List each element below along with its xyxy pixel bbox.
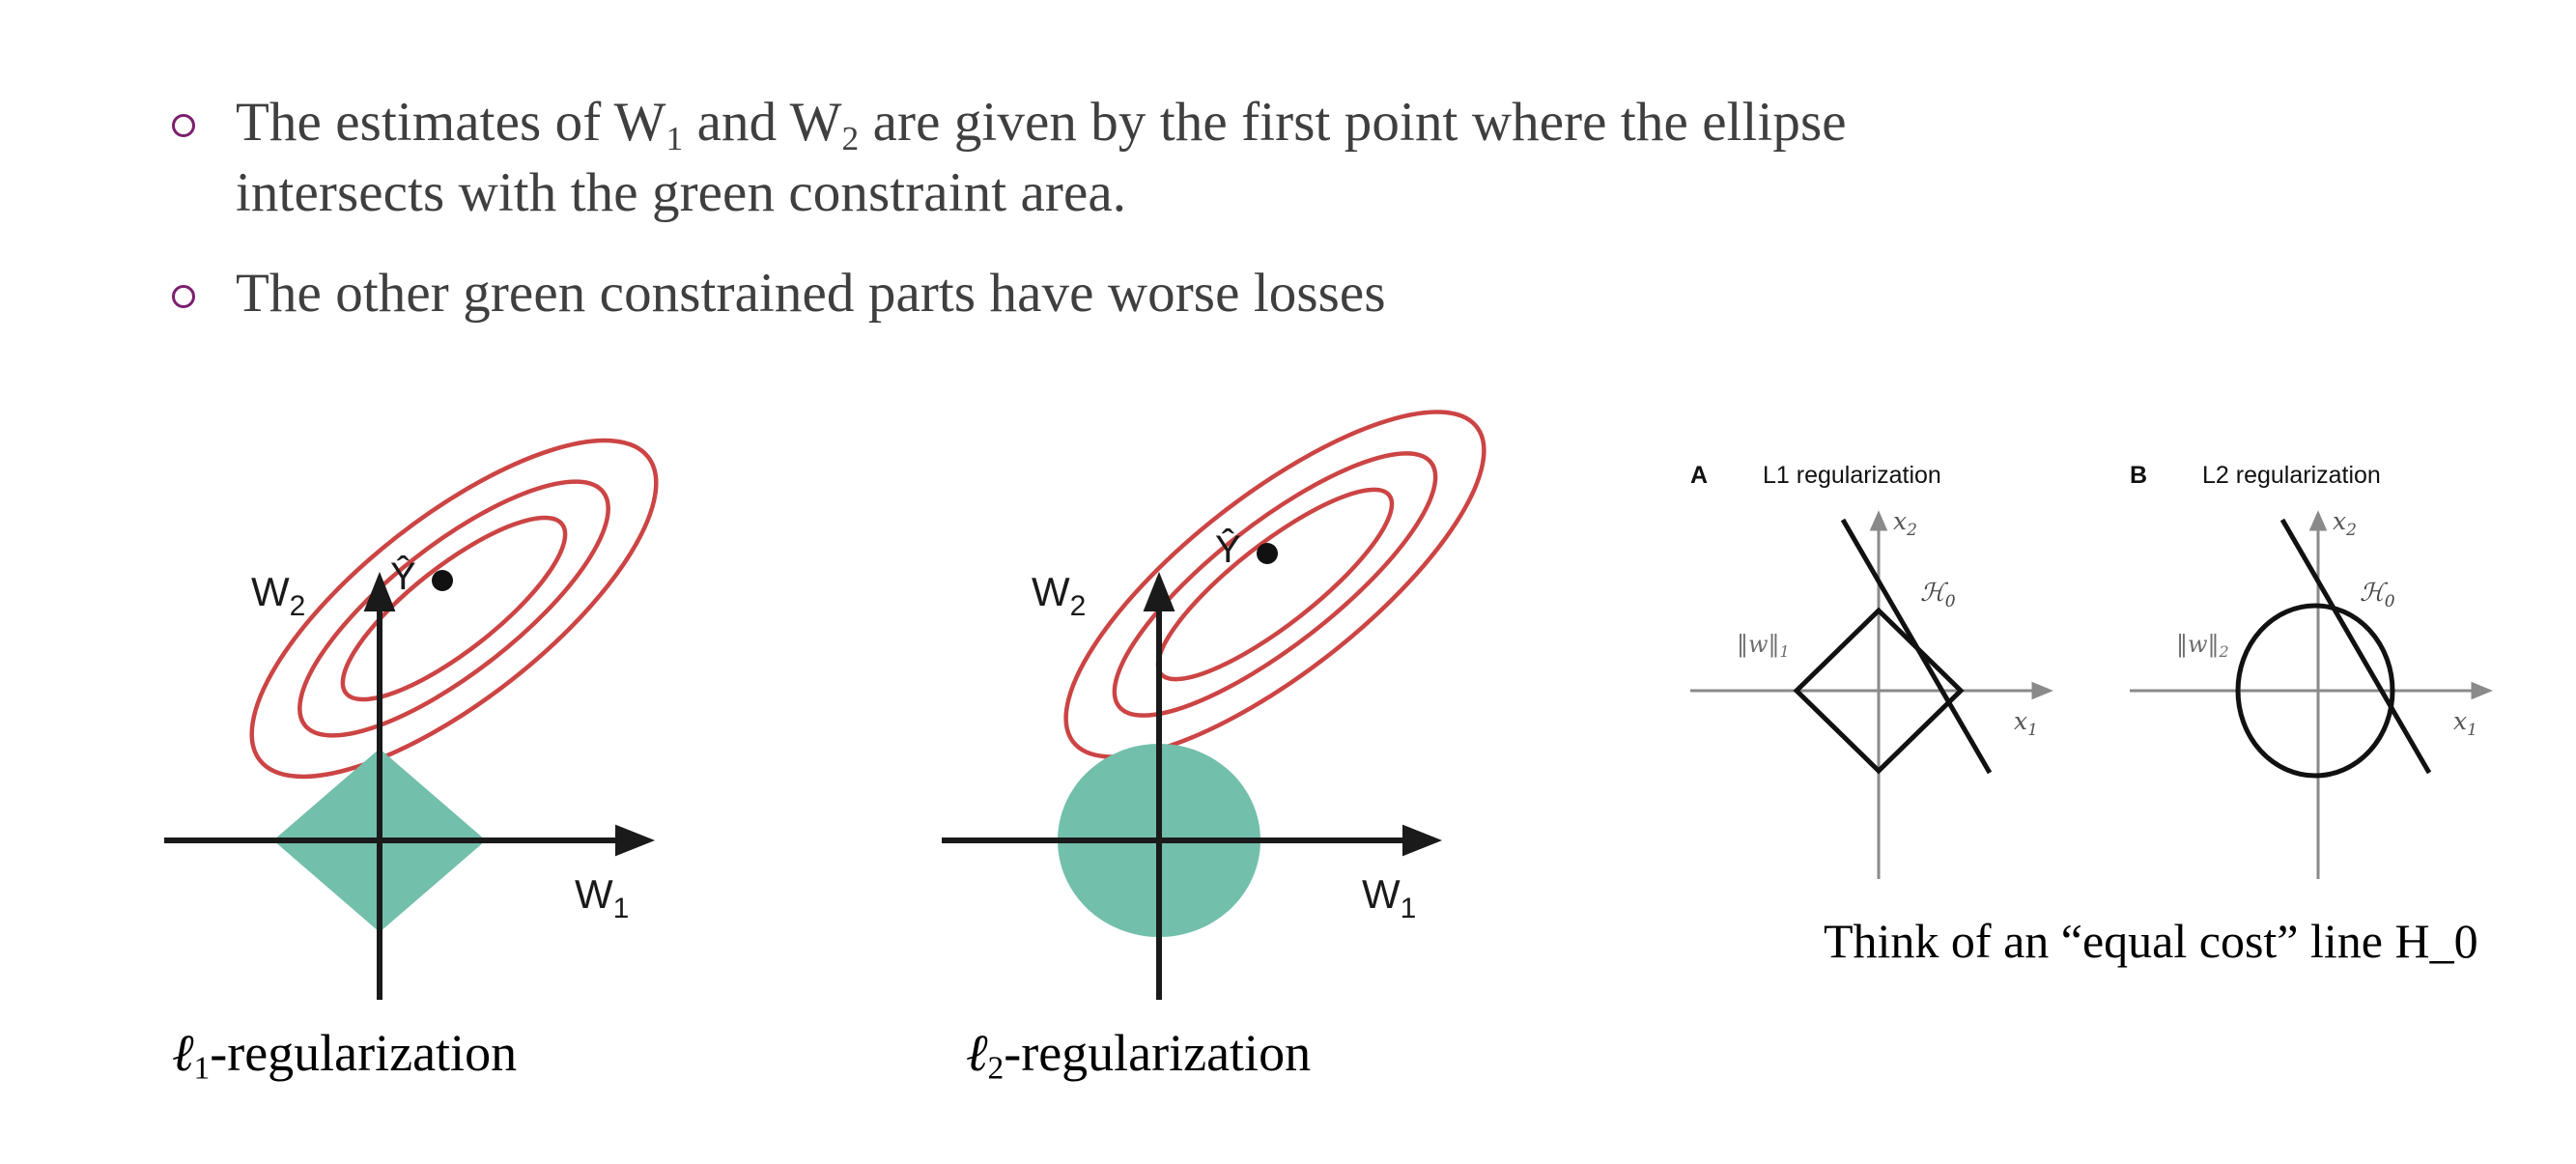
l2-caption-sub: 2 [988,1051,1005,1087]
l1-figure-caption: ℓ1-regularization [172,1022,517,1088]
loss-contour-inner [1136,464,1414,706]
circle-outline-bullet-icon [172,285,195,308]
l2-regularization-diagram: W2 W1 Ŷ [927,401,1545,1019]
panel-b-l2: B L2 regularization x2 x1 ℋ0 ‖w‖2 [2130,462,2489,879]
bullet-1-part-b: and W [683,92,841,153]
l1-caption-sub: 1 [194,1051,211,1087]
y-axis-arrow-icon [1147,580,1171,609]
panel-a-title: L1 regularization [1763,462,1941,489]
loss-contour-middle [1082,414,1469,754]
bullet-text-2: The other green constrained parts have w… [236,260,1386,327]
panel-a-l1: A L1 regularization x2 x1 ℋ0 ‖w [1690,462,2050,879]
panel-b-hyperplane-line [2282,520,2429,773]
y-axis-arrow-icon [368,580,391,609]
panel-a-hyperplane-label: ℋ0 [1920,579,1956,611]
panel-b-y-arrow-icon [2311,514,2325,529]
optimum-dot-icon [1257,543,1278,564]
l1-caption-rest: -regularization [210,1024,517,1082]
panel-a-norm-label: ‖w‖1 [1737,631,1790,661]
bullet-1-part-c: are given by the first point where the e… [859,92,1846,153]
l2-caption-ell: ℓ [966,1022,988,1083]
circle-outline-bullet-icon [172,114,195,137]
optimum-label: Ŷ [1215,527,1241,571]
bullet-1-sub-2: 2 [841,120,859,157]
panel-a-letter: A [1690,462,1708,489]
x-axis-label: W1 [575,871,629,924]
l1-caption-ell: ℓ [172,1022,194,1083]
panel-b-title: L2 regularization [2202,462,2381,489]
x-axis-label: W1 [1362,871,1416,924]
bullet-text-1: The estimates of W1 and W2 are given by … [236,89,1847,227]
bullet-1-part-a: The estimates of W [236,92,666,153]
x-axis-arrow-icon [1405,829,1434,852]
panel-b-y-label: x2 [2333,507,2357,540]
optimum-label: Ŷ [390,554,416,598]
panel-b-x-label: x1 [2453,707,2477,740]
list-item: The estimates of W1 and W2 are given by … [172,89,2413,227]
optimum-dot-icon [432,570,453,591]
l2-caption-rest: -regularization [1004,1024,1311,1082]
panel-b-hyperplane-label: ℋ0 [2360,579,2395,611]
panel-b-norm-label: ‖w‖2 [2176,631,2229,661]
panel-b-letter: B [2130,462,2147,489]
bullet-1-sub-1: 1 [666,120,684,157]
panel-a-y-label: x2 [1893,507,1917,540]
panel-a-x-arrow-icon [2033,684,2050,697]
x-axis-arrow-icon [618,829,647,852]
panel-b-x-arrow-icon [2473,684,2489,697]
panel-a-x-label: x1 [2014,707,2038,740]
panel-a-y-arrow-icon [1872,514,1885,529]
bullet-list: The estimates of W1 and W2 are given by … [172,89,2413,359]
loss-contour-outer [1019,356,1532,811]
y-axis-label: W2 [251,569,305,622]
bullet-1-line-2: intersects with the green constraint are… [236,162,1126,223]
l1-regularization-diagram: W2 W1 Ŷ [135,401,753,1019]
list-item: The other green constrained parts have w… [172,260,2413,327]
l2-figure-caption: ℓ2-regularization [966,1022,1311,1088]
equal-cost-line-caption: Think of an “equal cost” line H_0 [1824,913,2478,969]
y-axis-label: W2 [1032,569,1086,622]
bullet-2-line-1: The other green constrained parts have w… [236,263,1386,324]
panel-ab-figure: A L1 regularization x2 x1 ℋ0 ‖w [1681,454,2550,937]
